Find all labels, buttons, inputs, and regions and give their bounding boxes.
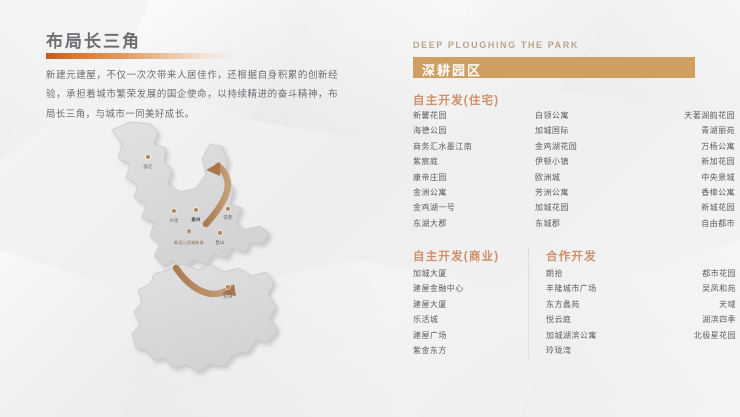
list-item: 东城郡 [535,220,639,228]
list-item: 加城花园 [535,204,639,212]
list-item: 建屋广场 [413,332,533,340]
page-title: 布局长三角 [46,27,141,52]
map-label-suqian: 宿迁 [143,164,152,170]
list-item: 香樟公寓 [639,189,735,197]
section-banner: 深耕园区 [413,57,695,78]
residential-column-3: 天著湖韵花园 青湖丽苑 万杨公寓 新加花园 中央景城 香樟公寓 新城花园 自由都… [639,112,735,235]
residential-column-1: 新馨花园 海德公园 商务汇水墨江南 紫宸庭 康帝庄园 金洲公寓 金鸡湖一号 东湖… [413,112,535,235]
list-item: 吴凤和苑 [654,285,736,293]
list-item: 万杨公寓 [639,143,735,151]
section-heading-commercial: 自主开发(商业) [413,248,499,264]
list-item: 丰隆城市广场 [546,285,654,293]
list-item: 欧洲城 [535,174,639,182]
list-item: 建屋金融中心 [413,285,533,293]
map-label-shaoxing: 绍兴 [223,294,232,300]
list-item: 天域 [654,301,736,309]
list-item: 朗拾 [546,270,654,278]
map-label-xinghua: 兴化 [169,218,178,224]
list-item: 乐活城 [413,316,533,324]
map-region: ★ 宿迁 兴化 泰州 常熟 昆山 新吴江滨湖新城 绍兴 [110,118,320,383]
right-panel: DEEP PLOUGHING THE PARK 深耕园区 自主开发(住宅) 新馨… [400,0,740,417]
cooperation-column-1: 朗拾 丰隆城市广场 东方蠡苑 悦云庭 加城湖滨公寓 玲珑湾 [546,270,654,362]
section-banner-title: 深耕园区 [422,60,482,79]
title-accent-bar [46,53,243,59]
list-item: 加城湖滨公寓 [546,332,654,340]
list-item: 悦云庭 [546,316,654,324]
list-item: 青湖丽苑 [639,127,735,135]
list-item: 新加花园 [639,158,735,166]
list-item: 紫金东方 [413,347,533,355]
list-item: 玲珑湾 [546,347,654,355]
map-star-icon: ★ [186,229,192,236]
list-item: 湖滨四季 [654,316,736,324]
section-heading-cooperation: 合作开发 [546,248,597,264]
residential-column-2: 白领公寓 加城国际 金鸡湖花园 伊顿小镇 欧洲城 芳洲公寓 加城花园 东城郡 [535,112,639,235]
list-item: 伊顿小镇 [535,158,639,166]
list-item: 新城花园 [639,204,735,212]
map-shape [110,118,320,383]
list-item: 康帝庄园 [413,174,535,182]
list-item: 金洲公寓 [413,189,535,197]
list-item: 芳洲公寓 [535,189,639,197]
commercial-column-1: 加城大厦 建屋金融中心 建屋大厦 乐活城 建屋广场 紫金东方 [413,270,533,362]
list-item: 北极星花园 [654,332,736,340]
map-label-new-town: 新吴江滨湖新城 [174,240,203,246]
eyebrow-text: DEEP PLOUGHING THE PARK [413,40,579,50]
section-divider [528,248,529,358]
residential-columns: 新馨花园 海德公园 商务汇水墨江南 紫宸庭 康帝庄园 金洲公寓 金鸡湖一号 东湖… [413,112,735,235]
list-item: 东湖大郡 [413,220,535,228]
cooperation-column-2: 都市花园 吴凤和苑 天域 湖滨四季 北极星花园 [654,270,736,362]
list-item: 金鸡湖一号 [413,204,535,212]
list-item: 海德公园 [413,127,535,135]
list-item: 东方蠡苑 [546,301,654,309]
list-item: 加城大厦 [413,270,533,278]
map-label-changshu: 常熟 [223,215,232,221]
cooperation-columns: 朗拾 丰隆城市广场 东方蠡苑 悦云庭 加城湖滨公寓 玲珑湾 都市花园 吴凤和苑 … [546,270,736,362]
list-item: 自由都市 [639,220,735,228]
intro-paragraph: 新建元建屋，不仅一次次带来人居佳作，还根据自身积累的创新经验，承担着城市繁荣发展… [46,66,338,124]
list-item: 新馨花园 [413,112,535,120]
map-label-kunshan: 昆山 [215,240,224,246]
left-panel: 布局长三角 新建元建屋，不仅一次次带来人居佳作，还根据自身积累的创新经验，承担着… [0,0,390,417]
list-item: 商务汇水墨江南 [413,143,535,151]
list-item: 建屋大厦 [413,301,533,309]
map-label-taizhou: 泰州 [191,217,200,223]
list-item: 金鸡湖花园 [535,143,639,151]
list-item: 白领公寓 [535,112,639,120]
list-item: 加城国际 [535,127,639,135]
list-item: 中央景城 [639,174,735,182]
section-heading-residential: 自主开发(住宅) [413,92,735,108]
list-item: 天著湖韵花园 [639,112,735,120]
list-item: 紫宸庭 [413,158,535,166]
list-item: 都市花园 [654,270,736,278]
